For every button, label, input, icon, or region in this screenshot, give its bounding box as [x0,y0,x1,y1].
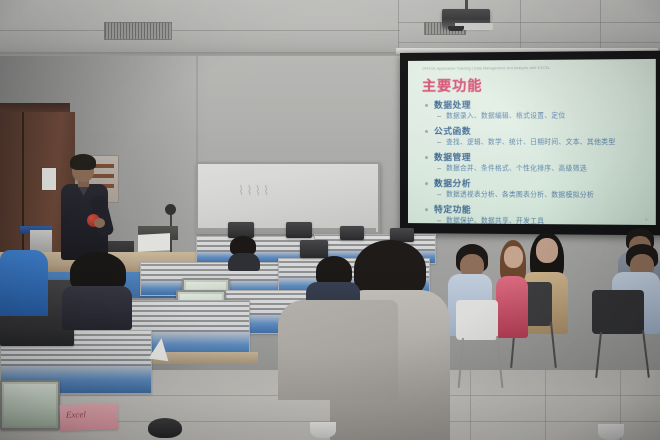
computer-mouse [148,418,182,438]
bullet-detail: 数据合并、条件格式、个性化排序、高级筛选 [422,163,650,175]
floor-tile-line [545,370,546,440]
slide-bullet-list: 数据处理 数据录入、数据编辑、格式设置、定位 公式函数 查找、逻辑、数学、统计、… [422,98,650,225]
slide-bullet-group: 数据分析 数据透视表分析、各类图表分析、数据模拟分析 [422,177,650,201]
pink-label-note: Excel [60,403,119,431]
waste-bin [310,422,336,438]
student-torso [496,276,528,338]
slide-surface: OFFICE Application Training | Data Manag… [408,59,656,225]
instructor-hair [70,154,96,170]
instructor [58,156,114,260]
ceiling-seam [0,30,400,31]
crt-monitor [340,226,364,240]
bullet-heading: 公式函数 [422,125,650,137]
wall-notice-sheet [42,168,56,190]
paper-cone [149,337,172,362]
chair-back-white [456,300,498,340]
student-torso [62,286,132,330]
ceiling-vent [104,22,172,40]
student-torso [0,250,48,316]
slide-bullet-group: 数据管理 数据合并、条件格式、个性化排序、高级筛选 [422,151,650,175]
pink-label-note-text: Excel [66,409,86,420]
podium-paper [138,233,170,252]
crt-monitor [286,222,312,238]
bullet-detail: 数据保护、数据共享、开发工具 [422,215,650,225]
bullet-detail: 查找、逻辑、数学、统计、日期时间、文本、其他类型 [422,137,650,148]
classroom-photo: ⌇⌇⌇⌇ OFFICE Application Training | Data … [0,0,660,440]
slide-page-number: 9 [645,217,647,222]
chair-back [592,290,644,334]
student-back-left [228,236,260,266]
bullet-detail: 数据透视表分析、各类图表分析、数据模拟分析 [422,189,650,201]
whiteboard-writing: ⌇⌇⌇⌇ [238,183,334,205]
microphone-icon [165,204,176,215]
slide-title: 主要功能 [422,75,483,95]
student-dark-front-left [62,252,132,322]
bullet-heading: 数据分析 [422,177,650,190]
projection-screen: OFFICE Application Training | Data Manag… [400,51,660,236]
bullet-heading: 数据处理 [422,98,650,111]
instructor-hand [94,218,105,228]
slide-bullet-group: 特定功能 数据保护、数据共享、开发工具 [422,203,650,225]
student-head [536,238,558,263]
student-grey-sleeve-arm [278,300,398,400]
floor-tile-line [470,370,471,440]
student-blue-jacket-left [0,250,48,316]
monitor-screen [4,384,56,426]
student-head [504,246,523,268]
student-pink-top [496,240,528,332]
waste-bin [598,424,624,440]
slide-bullet-group: 数据处理 数据录入、数据编辑、格式设置、定位 [422,98,650,122]
student-arm-sleeve [278,300,398,400]
projector-lens-icon [448,26,464,31]
cabinet-door-split [22,112,24,262]
ceiling-seam [398,42,660,43]
slide-header-text: OFFICE Application Training | Data Manag… [422,65,645,76]
student-torso [228,253,260,271]
crt-monitor-lit [0,380,60,430]
bullet-detail: 数据录入、数据编辑、格式设置、定位 [422,110,650,122]
slide-bullet-group: 公式函数 查找、逻辑、数学、统计、日期时间、文本、其他类型 [422,125,650,149]
bullet-heading: 数据管理 [422,151,650,163]
